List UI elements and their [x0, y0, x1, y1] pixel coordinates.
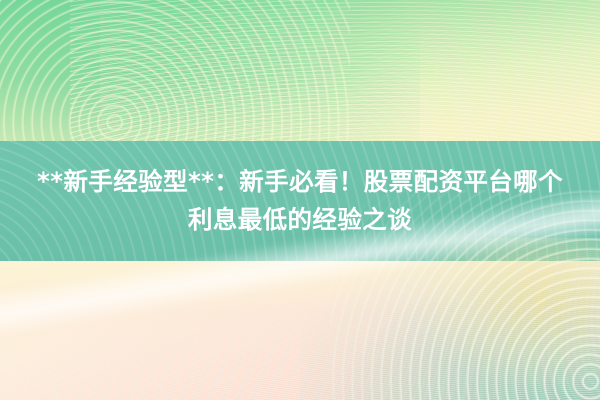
headline-line-1: **新手经验型**：新手必看！股票配资平台哪个: [37, 163, 563, 201]
banner-image: **新手经验型**：新手必看！股票配资平台哪个 利息最低的经验之谈: [0, 0, 600, 400]
headline-line-2: 利息最低的经验之谈: [188, 201, 412, 239]
headline-block: **新手经验型**：新手必看！股票配资平台哪个 利息最低的经验之谈: [0, 141, 600, 261]
top-band-softening-overlay: [0, 0, 600, 141]
